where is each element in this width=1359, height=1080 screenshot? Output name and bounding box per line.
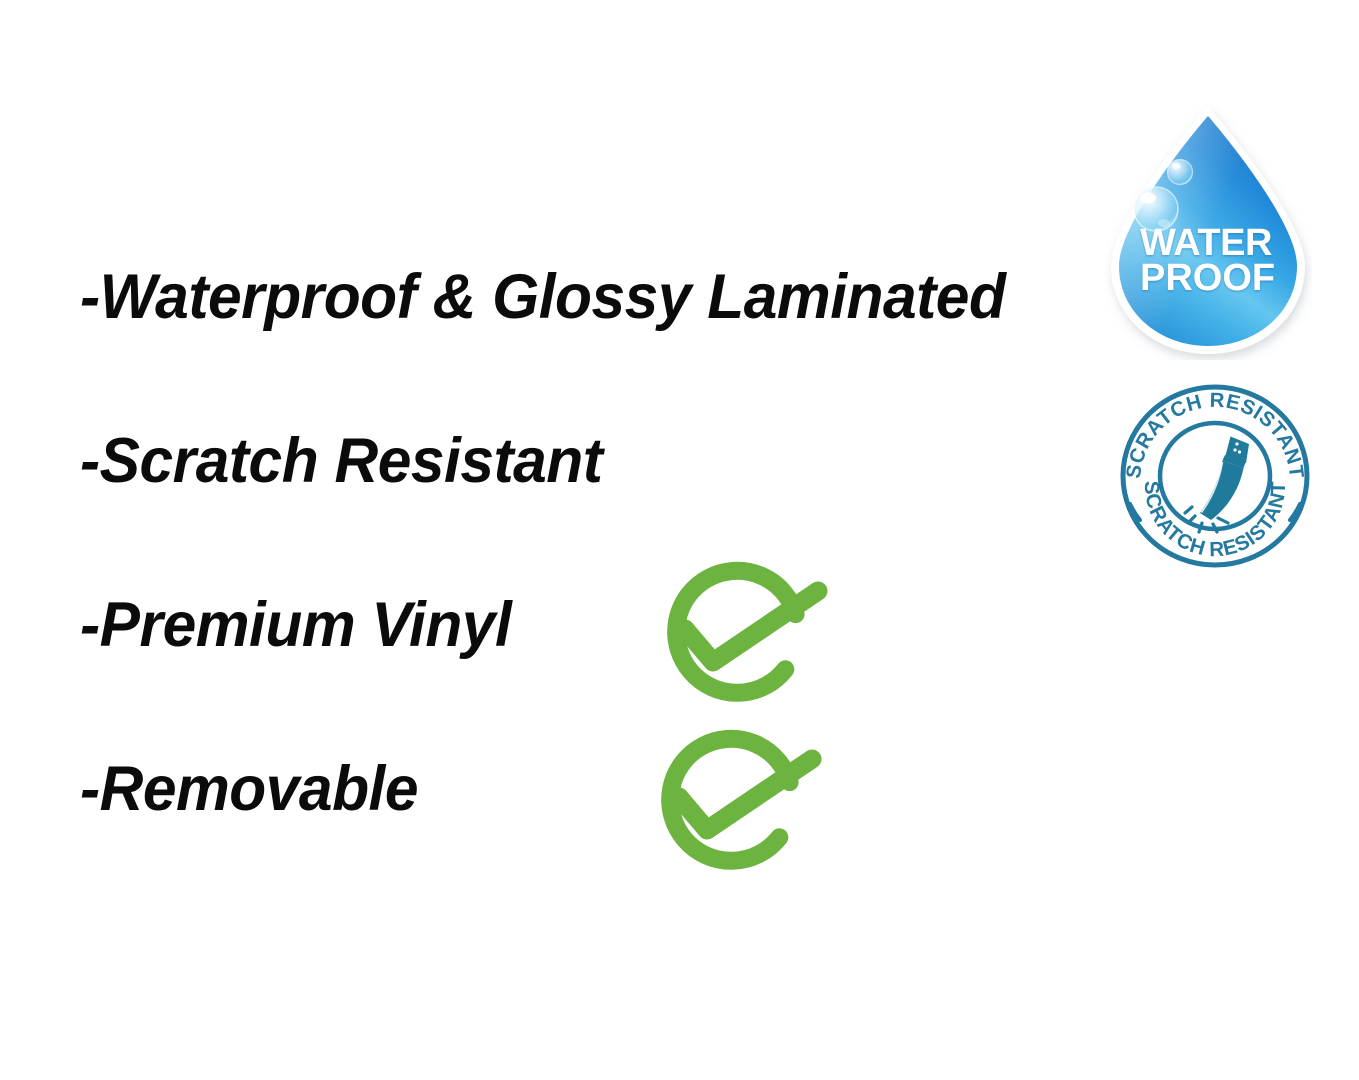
- check-circle-icon: [634, 726, 830, 874]
- water-drop-icon: [1104, 104, 1312, 360]
- feature-item-label: -Scratch Resistant: [80, 426, 602, 496]
- feature-item-removable: -Removable: [80, 758, 418, 821]
- check-circle-icon: [640, 558, 836, 706]
- scratch-resistant-badge: SCRATCH RESISTANT SCRATCH RESISTANT: [1118, 382, 1312, 570]
- feature-list: -Waterproof & Glossy Laminated -Scratch …: [0, 0, 1100, 1080]
- feature-item-label: -Waterproof & Glossy Laminated: [80, 262, 1005, 332]
- feature-graphic-canvas: -Waterproof & Glossy Laminated -Scratch …: [0, 0, 1359, 1080]
- feature-item-label: -Premium Vinyl: [80, 590, 511, 660]
- waterproof-badge: WATER PROOF: [1104, 104, 1312, 360]
- knife-icon: [1185, 437, 1249, 533]
- feature-item-scratch-resistant: -Scratch Resistant: [80, 430, 602, 493]
- knife-seal-icon: SCRATCH RESISTANT SCRATCH RESISTANT: [1118, 382, 1312, 570]
- feature-item-label: -Removable: [80, 754, 418, 824]
- seal-text-top: SCRATCH RESISTANT: [1122, 389, 1308, 480]
- feature-item-premium-vinyl: -Premium Vinyl: [80, 594, 511, 657]
- feature-item-waterproof-glossy-laminated: -Waterproof & Glossy Laminated: [80, 266, 1005, 329]
